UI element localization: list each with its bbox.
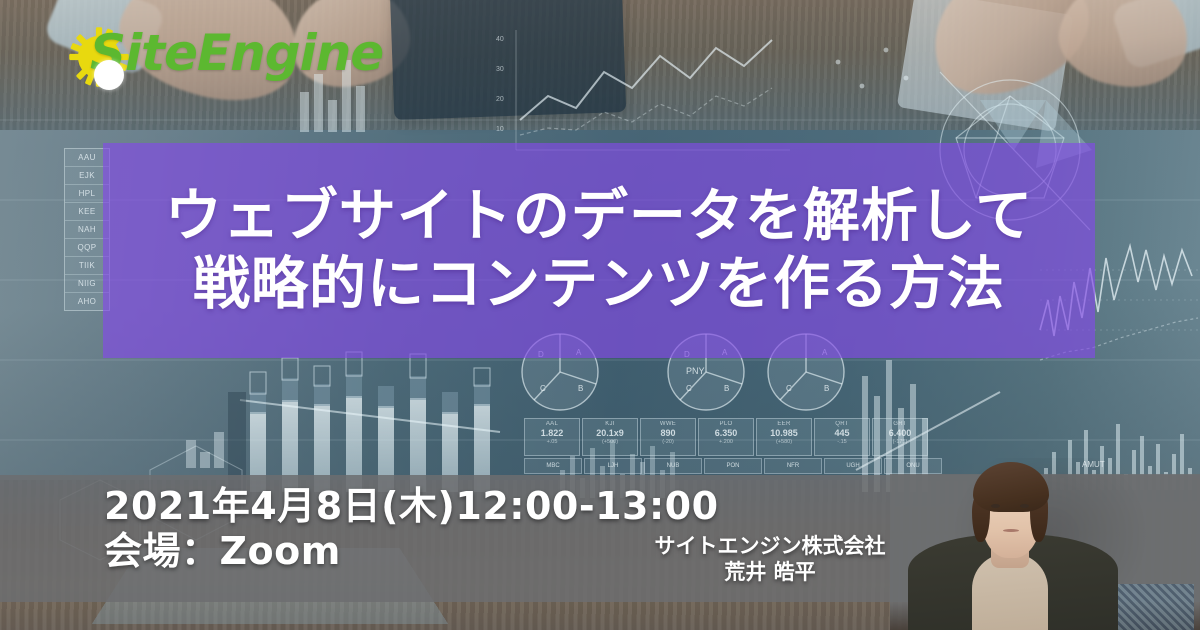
presenter-photo: [890, 430, 1200, 630]
title-line-2: 戦略的にコンテンツを作る方法: [193, 253, 1005, 317]
speaker-info: サイトエンジン株式会社 荒井 皓平: [600, 533, 940, 586]
tablet-device: [390, 0, 626, 120]
presenter-eye: [1020, 504, 1029, 508]
presenter-eye: [991, 504, 1000, 508]
title-block: ウェブサイトのデータを解析して 戦略的にコンテンツを作る方法: [103, 143, 1095, 358]
speaker-name: 荒井 皓平: [600, 559, 940, 585]
logo-dot: [94, 60, 124, 90]
site-logo[interactable]: SiteEngine: [68, 18, 398, 92]
event-datetime: 2021年4月8日(木)12:00-13:00: [104, 484, 724, 529]
presenter-mouth: [1003, 529, 1019, 532]
logo-wordmark: SiteEngine: [90, 24, 383, 82]
speaker-company: サイトエンジン株式会社: [600, 533, 940, 559]
webinar-banner: AAU EJK HPL KEE NAH QQP TIIK NIIG AHO AA…: [0, 0, 1200, 630]
title-line-1: ウェブサイトのデータを解析して: [165, 185, 1033, 249]
